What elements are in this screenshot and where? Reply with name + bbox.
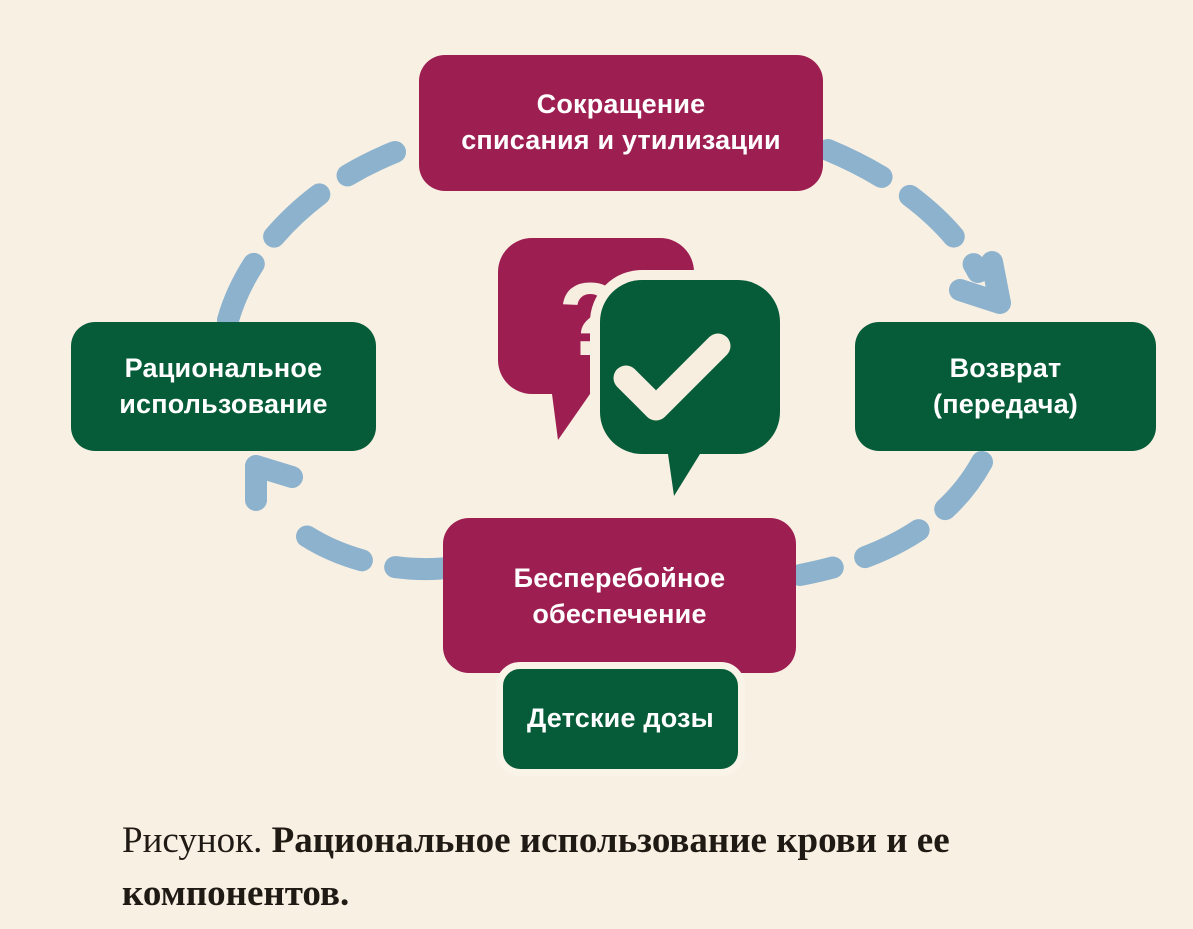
arrow-left-to-top [228,152,395,320]
node-reduce-writeoff-line2: списания и утилизации [461,125,781,155]
node-continuous-supply[interactable]: Бесперебойное обеспечение [443,518,796,673]
node-reduce-writeoff-line1: Сокращение [537,89,706,119]
arrow-bottom-to-left [256,466,455,569]
node-return-transfer-label: Возврат (передача) [933,351,1078,423]
node-reduce-writeoff[interactable]: Сокращение списания и утилизации [419,55,823,191]
node-continuous-supply-label: Бесперебойное обеспечение [514,561,726,633]
check-speech-bubble [600,280,780,496]
node-pediatric-doses-label: Детские дозы [527,701,714,737]
node-return-transfer[interactable]: Возврат (передача) [855,322,1156,451]
node-return-transfer-line1: Возврат [950,353,1062,383]
figure-rational-blood-use: ? Сокращение списания и утилизации Рацио… [0,0,1193,929]
center-icons: ? [480,230,780,500]
node-return-transfer-line2: (передача) [933,389,1078,419]
node-rational-use-label: Рациональное использование [119,351,328,423]
node-reduce-writeoff-label: Сокращение списания и утилизации [461,87,781,159]
figure-caption: Рисунок. Рациональное использование кров… [122,815,1102,920]
node-pediatric-doses[interactable]: Детские дозы [496,662,745,776]
arrow-right-to-bottom [800,462,982,575]
node-rational-use[interactable]: Рациональное использование [71,322,376,451]
node-continuous-supply-line2: обеспечение [532,599,706,629]
arrow-top-to-right [828,150,1000,303]
node-rational-use-line1: Рациональное [125,353,323,383]
node-rational-use-line2: использование [119,389,328,419]
node-continuous-supply-line1: Бесперебойное [514,563,726,593]
caption-prefix: Рисунок. [122,820,262,861]
speech-bubbles-group: ? [480,230,780,500]
